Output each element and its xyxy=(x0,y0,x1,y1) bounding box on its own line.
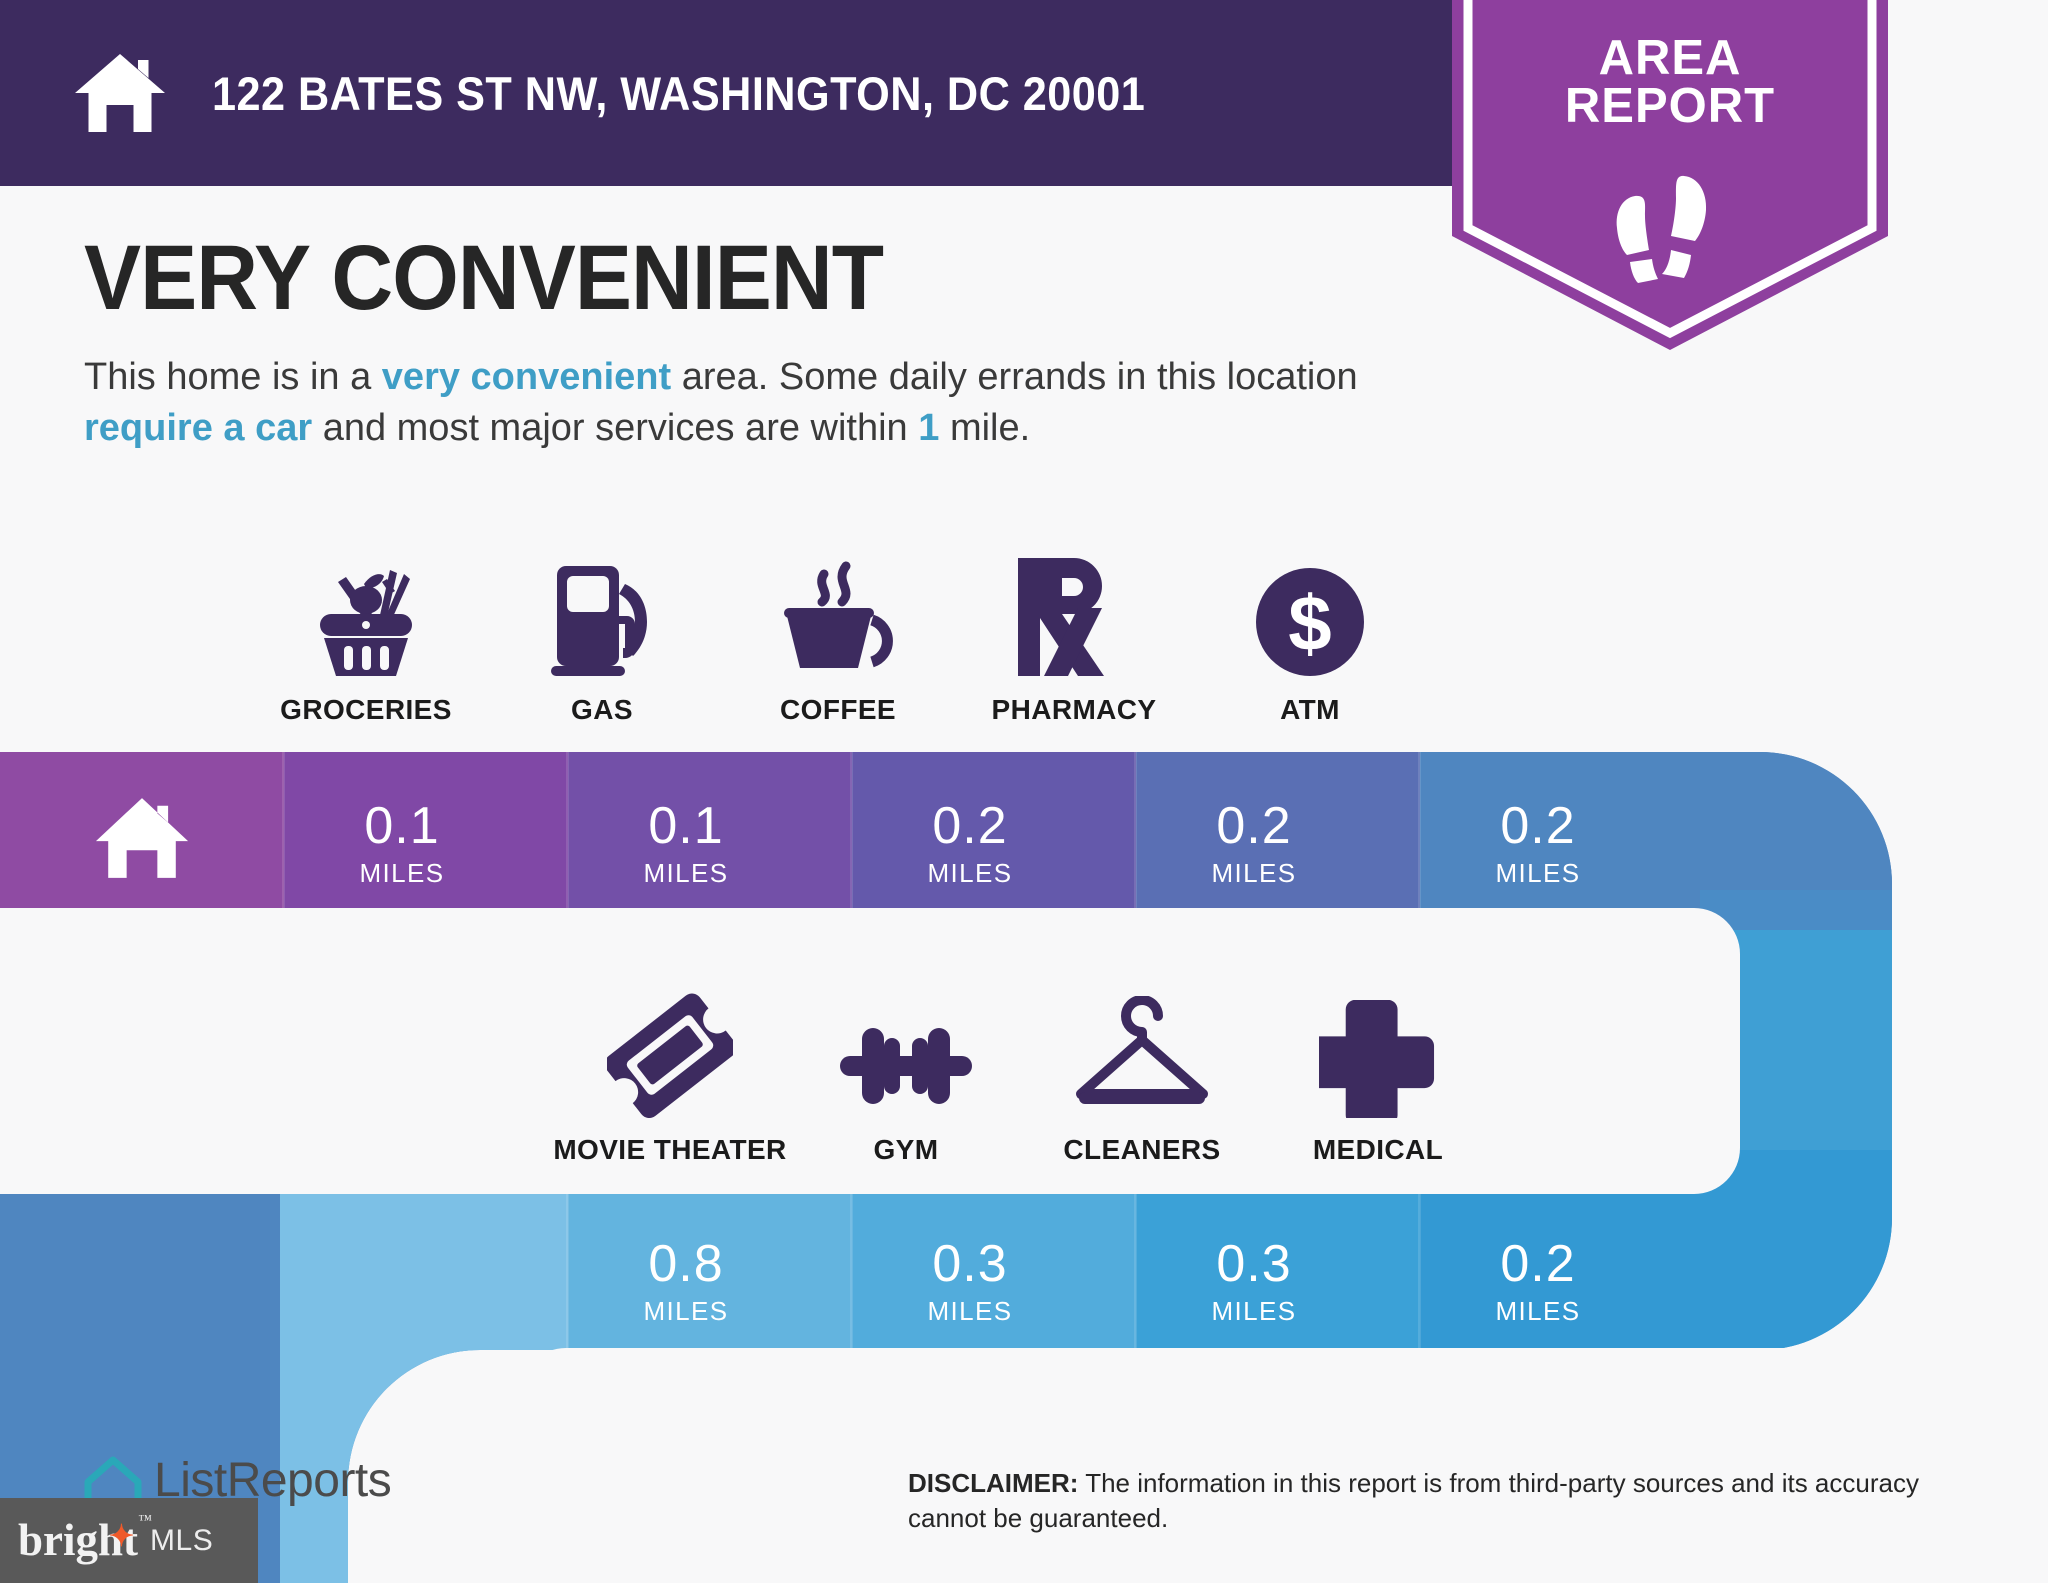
hero-section: VERY CONVENIENT This home is in a very c… xyxy=(84,232,1424,454)
amenity-label: CLEANERS xyxy=(1063,1134,1220,1166)
amenity-medical: MEDICAL xyxy=(1260,988,1496,1166)
svg-text:$: $ xyxy=(1288,579,1331,667)
mls-suffix: MLS xyxy=(150,1524,213,1558)
property-address: 122 BATES ST NW, WASHINGTON, DC 20001 xyxy=(212,66,1145,121)
header-bar: 122 BATES ST NW, WASHINGTON, DC 20001 xyxy=(0,0,1452,186)
amenity-label: GAS xyxy=(571,694,633,726)
clothes-hanger-icon xyxy=(1069,996,1215,1118)
amenity-gas: GAS xyxy=(484,548,720,726)
amenity-label: MEDICAL xyxy=(1313,1134,1443,1166)
area-report-badge: AREA REPORT xyxy=(1452,0,1888,350)
hero-text-2: area. Some daily errands in this locatio… xyxy=(671,356,1357,398)
amenity-gym: GYM xyxy=(788,988,1024,1166)
gas-pump-icon xyxy=(539,562,665,678)
rx-icon xyxy=(1018,556,1130,678)
amenity-icons-row-2: MOVIE THEATER GYM xyxy=(552,988,1496,1166)
amenity-label: COFFEE xyxy=(780,694,896,726)
amenity-groceries: GROCERIES xyxy=(248,548,484,726)
home-icon xyxy=(72,45,168,141)
disclaimer: DISCLAIMER: The information in this repo… xyxy=(908,1466,1968,1536)
dumbbell-icon xyxy=(836,1014,976,1118)
area-report-infographic: 122 BATES ST NW, WASHINGTON, DC 20001 AR… xyxy=(0,0,2048,1583)
medical-cross-icon xyxy=(1319,1000,1437,1118)
amenity-label: GYM xyxy=(874,1134,939,1166)
movie-ticket-icon xyxy=(607,992,733,1118)
amenity-movie-theater: MOVIE THEATER xyxy=(552,988,788,1166)
hero-description: This home is in a very convenient area. … xyxy=(84,352,1424,454)
bright-mls-watermark: bright✦™ MLS xyxy=(0,1498,258,1583)
amenity-label: ATM xyxy=(1280,694,1340,726)
amenity-atm: $ ATM xyxy=(1192,548,1428,726)
dollar-circle-icon: $ xyxy=(1254,566,1366,678)
mls-trademark: ™ xyxy=(138,1514,152,1528)
mls-brand: bright✦™ xyxy=(18,1518,138,1563)
coffee-cup-icon xyxy=(772,560,904,678)
amenity-coffee: COFFEE xyxy=(720,548,956,726)
amenity-cleaners: CLEANERS xyxy=(1024,988,1260,1166)
amenity-pharmacy: PHARMACY xyxy=(956,548,1192,726)
amenity-label: PHARMACY xyxy=(992,694,1157,726)
mls-star-icon: ✦ xyxy=(109,1522,134,1552)
hero-highlight-miles: 1 xyxy=(918,407,939,449)
hero-text-3: and most major services are within xyxy=(312,407,918,449)
grocery-basket-icon xyxy=(304,566,428,678)
home-marker-icon xyxy=(92,795,192,881)
hero-text-1: This home is in a xyxy=(84,356,382,398)
amenity-icons-row-1: GROCERIES GAS xyxy=(248,548,1428,726)
page-title: VERY CONVENIENT xyxy=(84,232,1330,324)
amenity-label: GROCERIES xyxy=(280,694,452,726)
hero-highlight-convenient: very convenient xyxy=(382,356,671,398)
amenity-label: MOVIE THEATER xyxy=(553,1134,786,1166)
hero-highlight-car: require a car xyxy=(84,407,312,449)
disclaimer-label: DISCLAIMER: xyxy=(908,1468,1078,1498)
hero-text-4: mile. xyxy=(939,407,1030,449)
